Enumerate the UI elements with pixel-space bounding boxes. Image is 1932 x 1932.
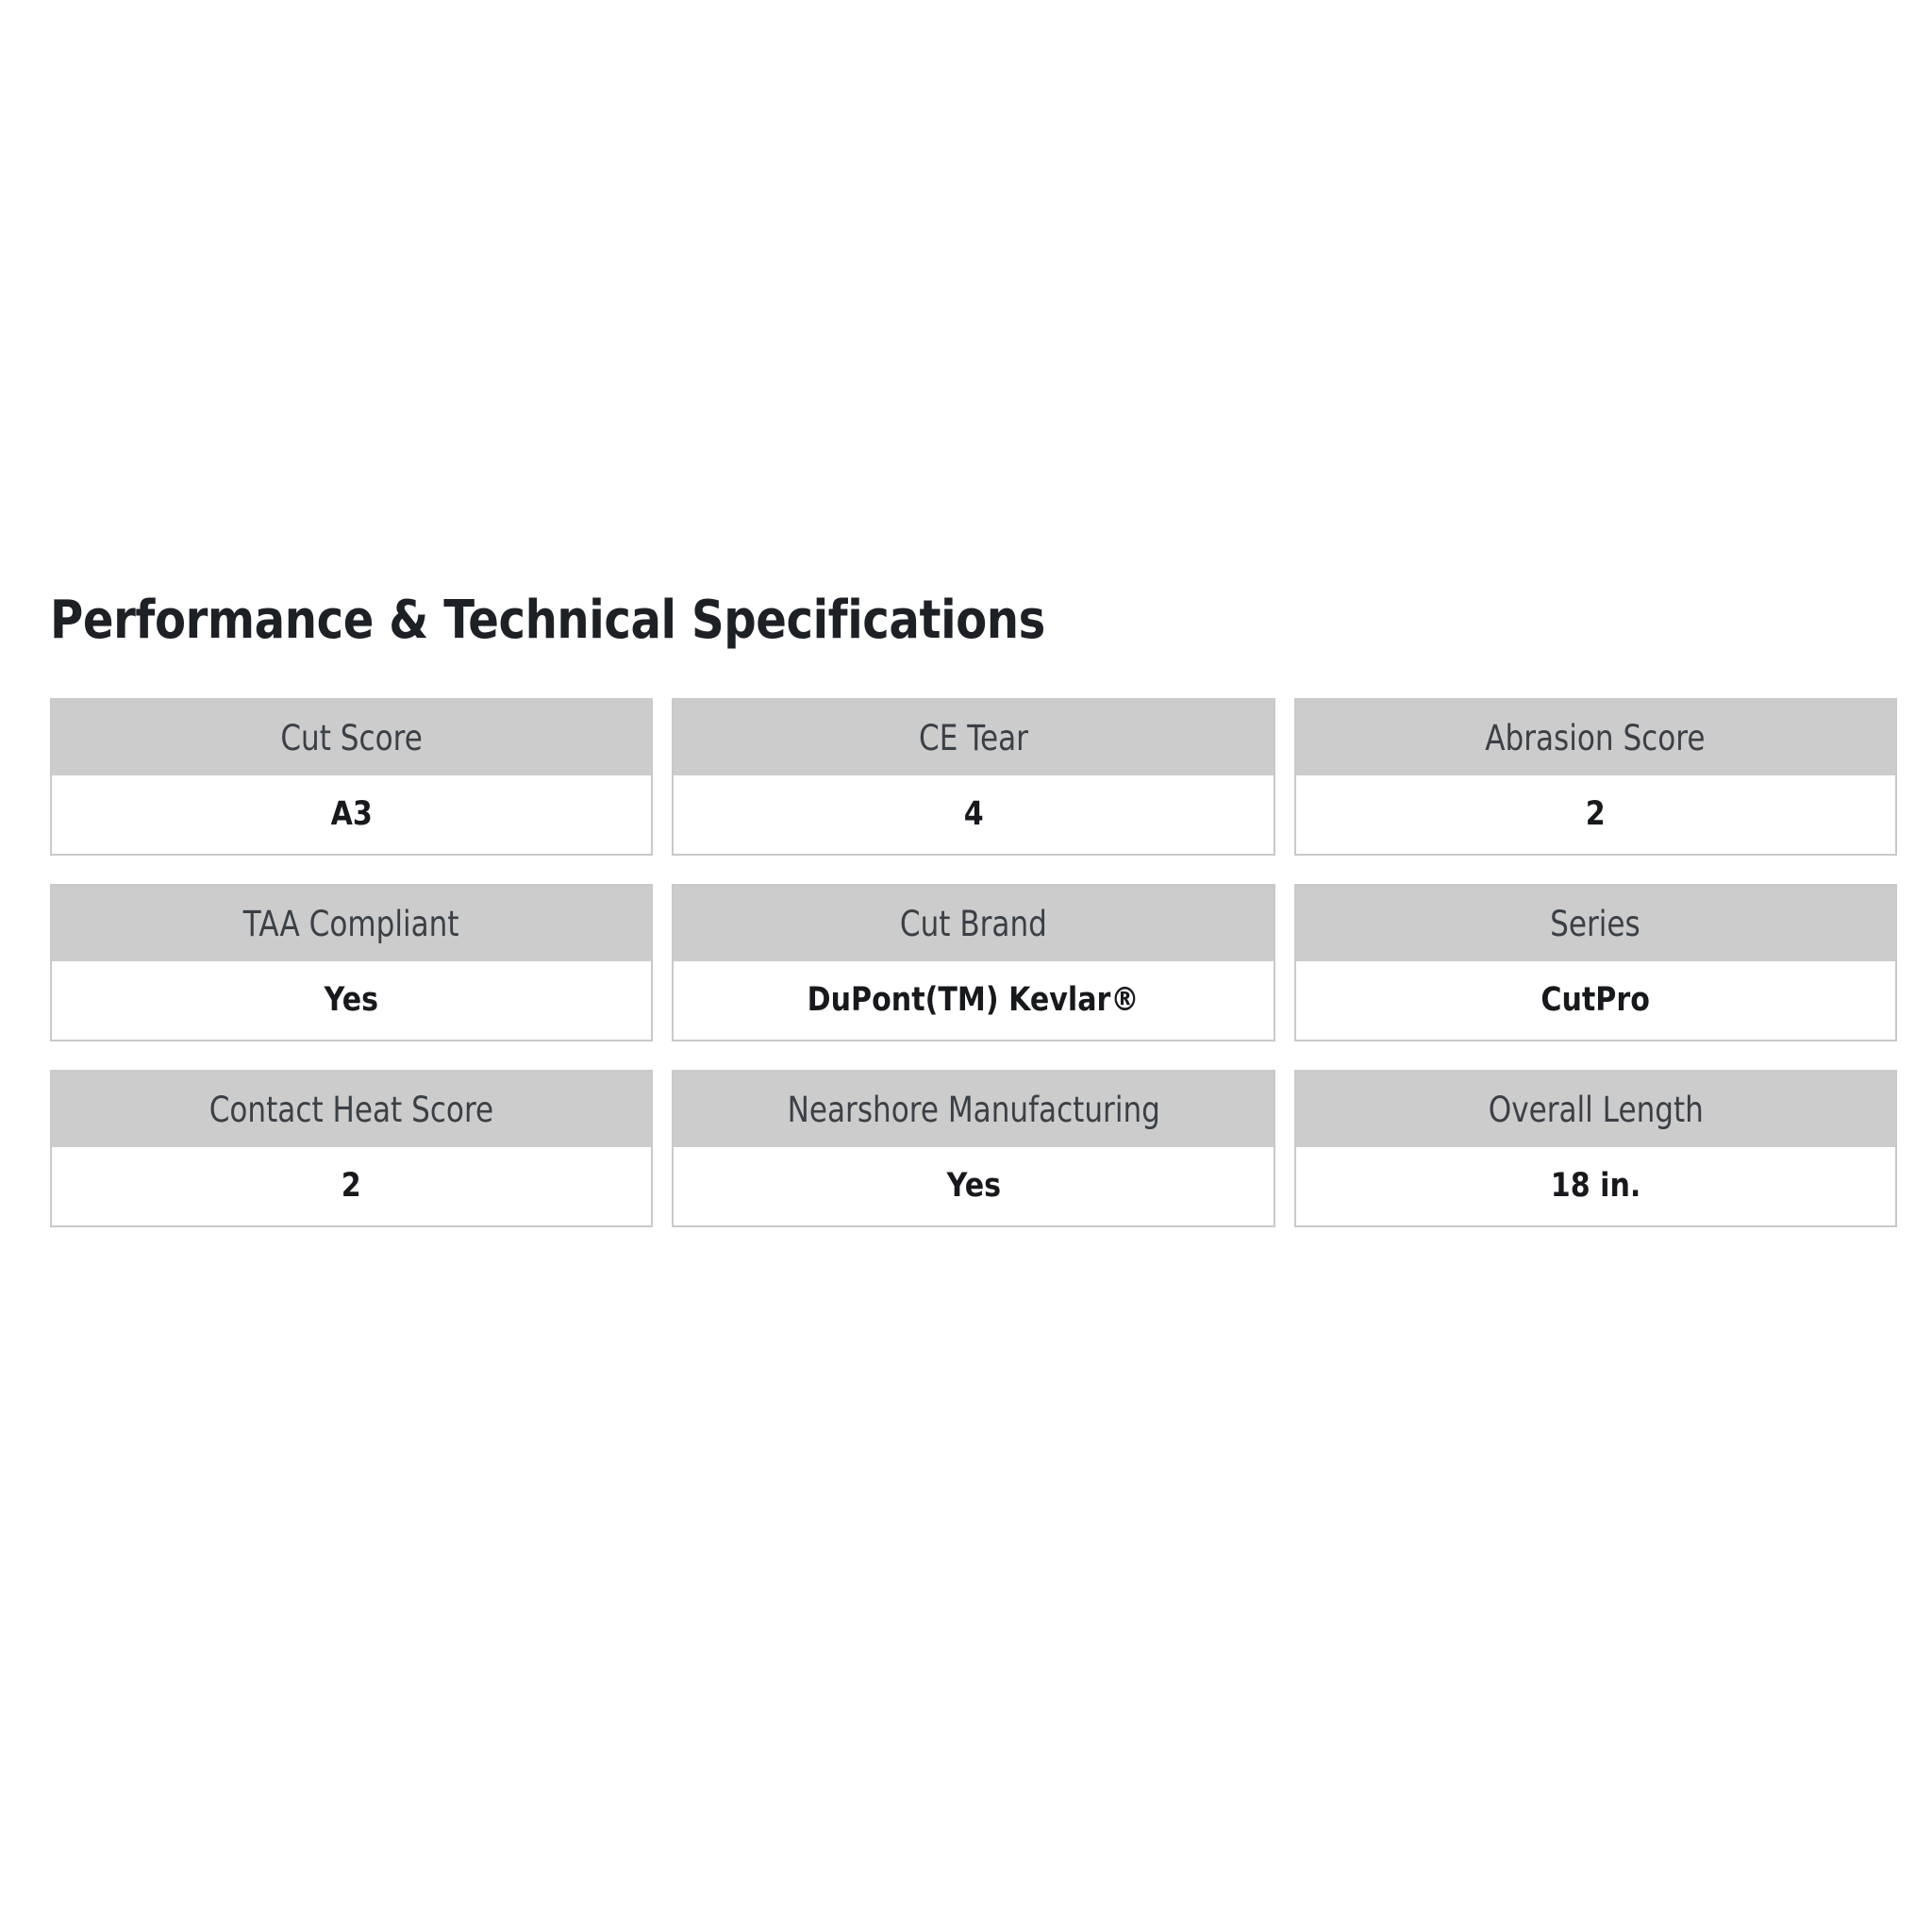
spec-card-header: Contact Heat Score — [52, 1072, 651, 1147]
page-title: Performance & Technical Specifications — [50, 592, 1639, 649]
spec-card-nearshore-manufacturing: Nearshore Manufacturing Yes — [672, 1070, 1274, 1227]
spec-card-taa-compliant: TAA Compliant Yes — [50, 884, 653, 1041]
spec-card-body: 18 in. — [1296, 1147, 1895, 1225]
spec-value: Yes — [325, 984, 378, 1017]
spec-card-body: A3 — [52, 775, 651, 854]
spec-card-overall-length: Overall Length 18 in. — [1294, 1070, 1897, 1227]
spec-label: Cut Brand — [900, 907, 1047, 941]
specifications-grid: Cut Score A3 CE Tear 4 Abrasion Score — [50, 698, 1897, 1227]
spec-label: Overall Length — [1488, 1092, 1703, 1127]
spec-card-series: Series CutPro — [1294, 884, 1897, 1041]
spec-card-header: Nearshore Manufacturing — [674, 1072, 1273, 1147]
spec-value: Yes — [946, 1170, 1000, 1203]
spec-card-header: Cut Score — [52, 700, 651, 775]
spec-card-header: Overall Length — [1296, 1072, 1895, 1147]
spec-value: A3 — [331, 798, 373, 831]
spec-card-body: 4 — [674, 775, 1273, 854]
spec-value: 18 in. — [1551, 1170, 1641, 1203]
spec-card-header: CE Tear — [674, 700, 1273, 775]
spec-value: DuPont(TM) Kevlar® — [808, 984, 1140, 1017]
spec-card-abrasion-score: Abrasion Score 2 — [1294, 698, 1897, 856]
spec-label: Cut Score — [280, 721, 423, 756]
spec-label: Contact Heat Score — [209, 1092, 493, 1127]
performance-specifications-section: Performance & Technical Specifications C… — [50, 592, 1897, 1227]
spec-card-body: CutPro — [1296, 961, 1895, 1040]
spec-value: 2 — [341, 1170, 361, 1203]
spec-card-cut-score: Cut Score A3 — [50, 698, 653, 856]
spec-label: TAA Compliant — [243, 907, 459, 941]
spec-card-body: Yes — [52, 961, 651, 1040]
spec-card-header: Series — [1296, 886, 1895, 961]
spec-card-body: 2 — [52, 1147, 651, 1225]
spec-card-header: Abrasion Score — [1296, 700, 1895, 775]
spec-label: Series — [1551, 907, 1641, 941]
spec-label: Abrasion Score — [1486, 721, 1706, 756]
spec-label: Nearshore Manufacturing — [787, 1092, 1159, 1127]
spec-card-body: 2 — [1296, 775, 1895, 854]
specifications-page: Performance & Technical Specifications C… — [0, 0, 1932, 1932]
spec-card-contact-heat-score: Contact Heat Score 2 — [50, 1070, 653, 1227]
spec-card-ce-tear: CE Tear 4 — [672, 698, 1274, 856]
spec-card-body: Yes — [674, 1147, 1273, 1225]
spec-card-header: TAA Compliant — [52, 886, 651, 961]
spec-value: CutPro — [1541, 984, 1650, 1017]
spec-card-header: Cut Brand — [674, 886, 1273, 961]
spec-value: 4 — [964, 798, 984, 831]
spec-card-body: DuPont(TM) Kevlar® — [674, 961, 1273, 1040]
spec-card-cut-brand: Cut Brand DuPont(TM) Kevlar® — [672, 884, 1274, 1041]
spec-value: 2 — [1586, 798, 1606, 831]
spec-label: CE Tear — [919, 721, 1028, 756]
